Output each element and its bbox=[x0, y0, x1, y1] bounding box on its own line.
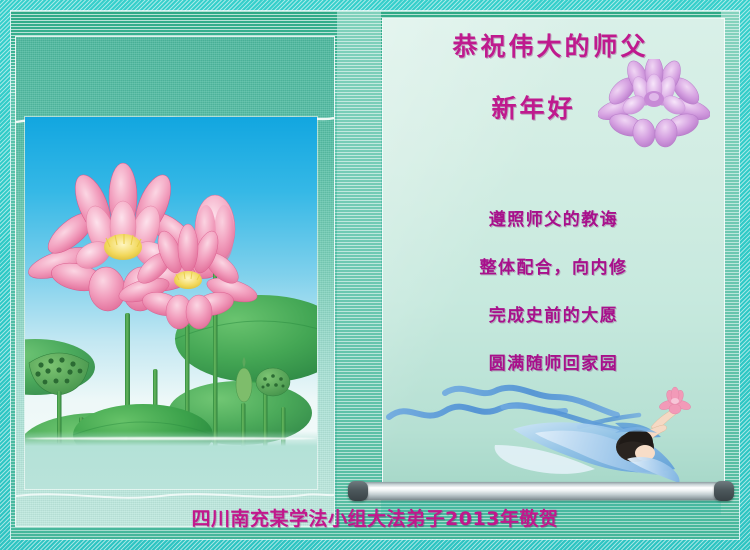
ribbon-streamers bbox=[389, 388, 639, 430]
pink-lotus-in-hand bbox=[658, 387, 692, 414]
lotus-seed-pod-small bbox=[256, 368, 290, 396]
rod-cap-right bbox=[714, 481, 734, 501]
left-photo-plate bbox=[16, 37, 334, 526]
poem-line-1: 遵照师父的教诲 bbox=[383, 205, 724, 230]
photo-bottom-mint-wash bbox=[25, 431, 317, 489]
title-line-2: 新年好 bbox=[383, 95, 724, 123]
celestial-maiden-flying-apsara bbox=[383, 371, 724, 485]
title-block: 恭祝伟大的师父 新年好 bbox=[383, 33, 724, 122]
rod-cap-left bbox=[348, 481, 368, 501]
card-inner-frame: 恭祝伟大的师父 新年好 遵照师父的教诲 整体配合，向内修 完成史前的大愿 圆满随… bbox=[11, 11, 739, 539]
signature-text: 四川南充某学法小组大法弟子2013年敬贺 bbox=[11, 504, 739, 531]
poem-line-2: 整体配合，向内修 bbox=[383, 253, 724, 278]
title-line-1: 恭祝伟大的师父 bbox=[383, 33, 724, 61]
poem-block: 遵照师父的教诲 整体配合，向内修 完成史前的大愿 圆满随师回家园 bbox=[383, 205, 724, 397]
greeting-card: 恭祝伟大的师父 新年好 遵照师父的教诲 整体配合，向内修 完成史前的大愿 圆满随… bbox=[0, 0, 750, 550]
lotus-photograph bbox=[25, 117, 317, 489]
rod-bar bbox=[359, 482, 723, 500]
center-vertical-stripe-divider bbox=[337, 11, 381, 539]
right-message-panel: 恭祝伟大的师父 新年好 遵照师父的教诲 整体配合，向内修 完成史前的大愿 圆满随… bbox=[383, 19, 724, 485]
chrome-scroll-rod bbox=[348, 481, 734, 501]
poem-line-3: 完成史前的大愿 bbox=[383, 301, 724, 326]
